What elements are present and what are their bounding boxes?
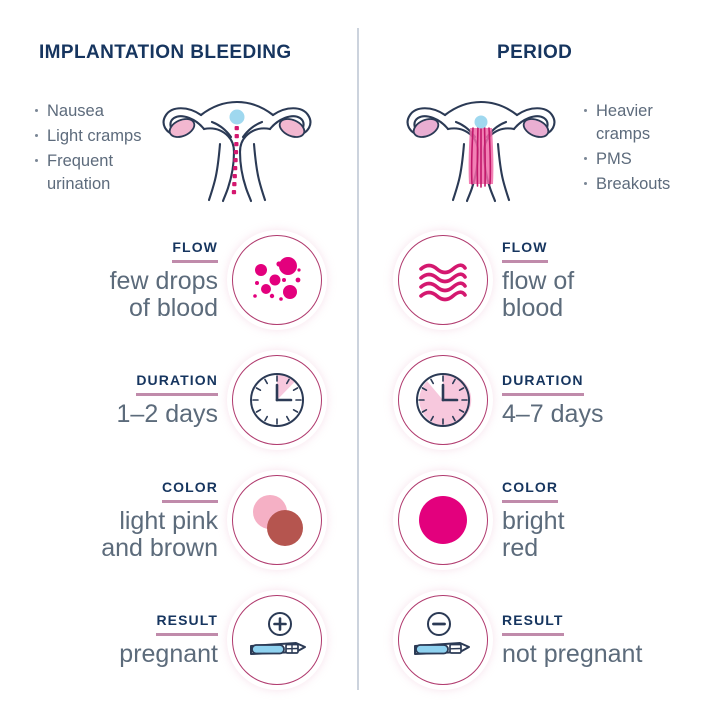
row-value-result-right: not pregnant	[502, 641, 642, 668]
symptom-list-period: Heavier cramps PMS Breakouts	[583, 100, 701, 198]
row-label-result: RESULT	[156, 612, 218, 636]
column-title-implantation-bleeding: IMPLANTATION BLEEDING	[39, 42, 292, 64]
list-item: Light cramps	[34, 125, 159, 148]
row-value-color-left: light pink and brown	[101, 508, 218, 562]
row-text: DURATION 1–2 days	[117, 372, 218, 428]
row-text: DURATION 4–7 days	[502, 372, 603, 428]
row-value-flow-left: few drops of blood	[110, 268, 218, 322]
list-item: Breakouts	[583, 173, 701, 196]
row-text: RESULT pregnant	[119, 612, 218, 668]
row-value-flow-right: flow of blood	[502, 268, 574, 322]
comparison-row-result-right: RESULT not pregnant	[380, 592, 720, 688]
comparison-row-result-left: RESULT pregnant	[0, 592, 340, 688]
row-text: COLOR bright red	[502, 479, 565, 562]
column-title-period: PERIOD	[497, 42, 572, 64]
comparison-row-duration-right: DURATION 4–7 days	[380, 352, 720, 448]
row-text: FLOW flow of blood	[502, 239, 574, 322]
row-label-flow: FLOW	[172, 239, 218, 263]
list-item: PMS	[583, 148, 701, 171]
plus-sign-icon	[275, 619, 286, 630]
row-value-duration-left: 1–2 days	[117, 401, 218, 428]
blood-waves-icon	[398, 235, 488, 325]
list-item: Heavier cramps	[583, 100, 701, 146]
infographic-canvas: IMPLANTATION BLEEDING PERIOD Nausea Ligh…	[0, 0, 720, 720]
symptom-list-implantation: Nausea Light cramps Frequent urination	[34, 100, 159, 198]
comparison-row-color-left: COLOR light pink and brown	[0, 472, 340, 568]
solid-red-swatch-icon	[398, 475, 488, 565]
blood-droplets-icon	[232, 235, 322, 325]
pregnancy-test-positive-icon	[232, 595, 322, 685]
row-value-result-left: pregnant	[119, 641, 218, 668]
list-item: Frequent urination	[34, 150, 159, 196]
row-text: COLOR light pink and brown	[101, 479, 218, 562]
row-label-duration: DURATION	[136, 372, 218, 396]
column-divider	[357, 28, 359, 690]
row-label-result: RESULT	[502, 612, 564, 636]
row-text: RESULT not pregnant	[502, 612, 642, 668]
row-label-flow: FLOW	[502, 239, 548, 263]
row-label-duration: DURATION	[502, 372, 584, 396]
row-label-color: COLOR	[162, 479, 218, 503]
comparison-row-duration-left: DURATION 1–2 days	[0, 352, 340, 448]
comparison-row-flow-left: FLOW few drops of blood	[0, 232, 340, 328]
list-item: Nausea	[34, 100, 159, 123]
row-text: FLOW few drops of blood	[110, 239, 218, 322]
row-label-color: COLOR	[502, 479, 558, 503]
clock-long-icon	[398, 355, 488, 445]
clock-short-icon	[232, 355, 322, 445]
pregnancy-test-negative-icon	[398, 595, 488, 685]
two-tone-color-swatch-icon	[232, 475, 322, 565]
comparison-row-flow-right: FLOW flow of blood	[380, 232, 720, 328]
row-value-duration-right: 4–7 days	[502, 401, 603, 428]
uterus-period-icon	[396, 84, 566, 209]
comparison-row-color-right: COLOR bright red	[380, 472, 720, 568]
uterus-implantation-icon	[152, 84, 322, 209]
row-value-color-right: bright red	[502, 508, 565, 562]
